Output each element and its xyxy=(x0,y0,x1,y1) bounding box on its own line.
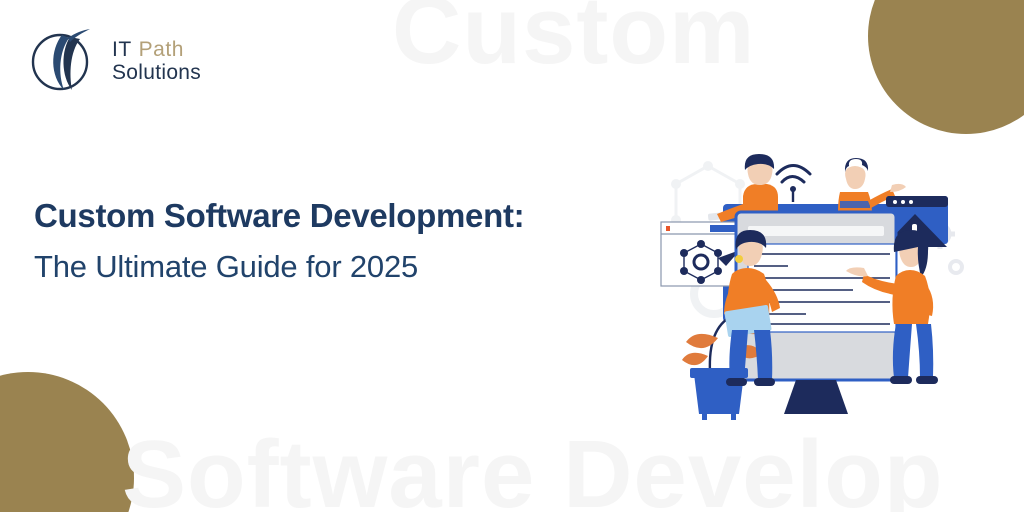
gear-icon-small xyxy=(950,261,962,273)
brand-logo[interactable]: ITPath Solutions xyxy=(28,24,201,98)
headline-block: Custom Software Development: The Ultimat… xyxy=(34,196,654,285)
gold-circle-decoration-top-right xyxy=(868,0,1024,134)
watermark-top: Custom xyxy=(392,0,755,86)
brand-name-path: Path xyxy=(139,38,184,61)
watermark-bottom: Software Develop xyxy=(122,420,944,512)
team-software-development-illustration xyxy=(648,126,978,426)
page-title: Custom Software Development: xyxy=(34,196,654,236)
brand-name-it: IT xyxy=(112,38,132,61)
page-subtitle: The Ultimate Guide for 2025 xyxy=(34,248,654,285)
blog-hero-banner: Custom Software Develop ITPath Solutions… xyxy=(0,0,1024,512)
brand-name-solutions: Solutions xyxy=(112,62,201,85)
gold-circle-decoration-bottom-left xyxy=(0,372,134,512)
brand-logo-text: ITPath Solutions xyxy=(112,37,201,84)
itpath-circle-swoosh-logo-icon xyxy=(28,24,102,98)
